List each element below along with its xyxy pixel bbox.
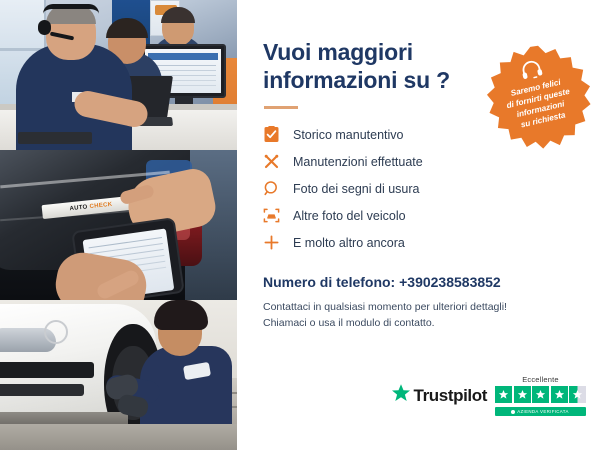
clipboard-check-icon <box>263 126 280 143</box>
badge-content: Saremo felici di fornirti queste informa… <box>473 33 600 163</box>
magnifier-icon <box>263 180 280 197</box>
feature-label: E molto altro ancora <box>293 236 405 250</box>
trustpilot-star-1 <box>495 386 512 403</box>
car-photo-frame-icon <box>263 207 280 224</box>
feature-label: Altre foto del veicolo <box>293 209 406 223</box>
crossed-tools-icon <box>263 153 280 170</box>
trustpilot-star-5-half <box>569 386 586 403</box>
feature-label: Storico manutentivo <box>293 128 403 142</box>
photo3-car-emblem <box>44 320 68 344</box>
photo3-grille-upper <box>0 362 94 378</box>
verified-company-badge: AZIENDA VERIFICATA <box>495 407 586 416</box>
photo3-floor <box>0 424 237 450</box>
car-inspection-strip-photo: AUTO CHECK <box>0 150 237 300</box>
trustpilot-brand: Trustpilot <box>391 383 487 408</box>
photo3-grille-lower <box>0 384 84 396</box>
feature-item-molto-altro: E molto altro ancora <box>263 229 578 256</box>
trustpilot-widget[interactable]: Trustpilot Eccellente <box>391 375 586 416</box>
trustpilot-rating-word: Eccellente <box>522 375 559 384</box>
trustpilot-star-2 <box>514 386 531 403</box>
call-center-agents-photo <box>0 0 237 150</box>
contact-subtext: Contattaci in qualsiasi momento per ulte… <box>263 299 578 332</box>
phone-number-line[interactable]: Numero di telefono: +390238583852 <box>263 274 578 290</box>
request-info-badge: Saremo felici di fornirti queste informa… <box>484 44 592 152</box>
photo2-strip-brand-accent: CHECK <box>89 202 112 210</box>
trustpilot-rating-block: Eccellente <box>495 375 586 416</box>
trustpilot-stars <box>495 386 586 403</box>
photo1-headset-earpiece <box>38 20 51 35</box>
contact-subtext-line-2: Chiamaci o usa il modulo di contatto. <box>263 315 578 331</box>
feature-item-altre-foto-veicolo: Altre foto del veicolo <box>263 202 578 229</box>
trustpilot-wordmark: Trustpilot <box>414 386 487 406</box>
headline-line-1: Vuoi maggiori <box>263 39 413 65</box>
badge-text: Saremo felici di fornirti queste informa… <box>490 72 590 136</box>
photo1-keyboard <box>18 132 92 144</box>
photo3-uniform-logo <box>183 362 211 380</box>
feature-label: Foto dei segni di usura <box>293 182 419 196</box>
content-panel: Vuoi maggiori informazioni su ? Storico … <box>237 0 600 450</box>
feature-label: Manutenzioni effettuate <box>293 155 423 169</box>
headline-line-2: informazioni su ? <box>263 67 450 93</box>
photo-column: AUTO CHECK <box>0 0 237 450</box>
trustpilot-star-icon <box>391 383 411 408</box>
headset-icon <box>519 58 545 82</box>
page-title: Vuoi maggiori informazioni su ? <box>263 38 473 94</box>
feature-item-foto-segni-usura: Foto dei segni di usura <box>263 175 578 202</box>
mechanic-wheel-photo <box>0 300 237 450</box>
promo-banner: AUTO CHECK <box>0 0 600 450</box>
title-underline-divider <box>264 106 298 109</box>
photo3-mechanic-hair <box>154 300 208 330</box>
verified-company-label: AZIENDA VERIFICATA <box>517 409 569 414</box>
plus-icon <box>263 234 280 251</box>
photo1-headset-band <box>43 4 99 14</box>
verified-check-icon <box>511 410 515 414</box>
contact-subtext-line-1: Contattaci in qualsiasi momento per ulte… <box>263 299 578 315</box>
trustpilot-star-3 <box>532 386 549 403</box>
photo2-strip-brand-text: AUTO <box>69 204 88 212</box>
trustpilot-star-4 <box>551 386 568 403</box>
